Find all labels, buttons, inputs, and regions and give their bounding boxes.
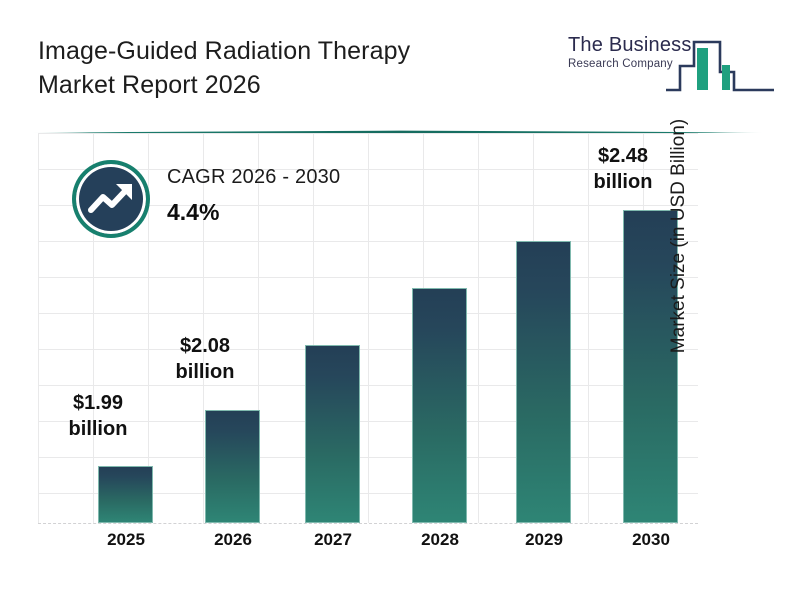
value-label-2025-amount: $1.99 [43, 390, 153, 416]
x-label-2029: 2029 [489, 530, 599, 550]
bar-2027 [305, 345, 360, 523]
value-label-2026-unit: billion [150, 359, 260, 385]
bar-2028 [412, 288, 467, 523]
bar-2029 [516, 241, 571, 523]
cagr-badge: CAGR 2026 - 2030 4.4% [72, 152, 402, 248]
cagr-period-label: CAGR 2026 - 2030 [167, 166, 340, 189]
x-label-2025: 2025 [71, 530, 181, 550]
x-label-2028: 2028 [385, 530, 495, 550]
bar-2026 [205, 410, 260, 523]
value-label-2025: $1.99 billion [43, 390, 153, 442]
page-title-line-1: Image-Guided Radiation Therapy [38, 34, 508, 68]
report-header: Image-Guided Radiation Therapy Market Re… [0, 0, 800, 122]
trending-up-icon [72, 160, 150, 238]
page-title: Image-Guided Radiation Therapy Market Re… [38, 34, 508, 102]
x-label-2026: 2026 [178, 530, 288, 550]
value-label-2030-amount: $2.48 [568, 143, 678, 169]
value-label-2030-unit: billion [568, 169, 678, 195]
x-axis-labels: 2025 2026 2027 2028 2029 2030 [38, 530, 698, 560]
y-axis-title: Market Size (in USD Billion) [668, 119, 690, 353]
x-label-2030: 2030 [596, 530, 706, 550]
value-label-2025-unit: billion [43, 416, 153, 442]
company-logo: The Business Research Company [568, 28, 778, 100]
value-label-2030: $2.48 billion [568, 143, 678, 195]
bar-chart-logo-icon [664, 28, 776, 105]
value-label-2026-amount: $2.08 [150, 333, 260, 359]
x-axis-line [38, 523, 698, 524]
page-title-line-2: Market Report 2026 [38, 68, 508, 102]
header-divider [30, 122, 770, 127]
bar-2025 [98, 466, 153, 523]
x-label-2027: 2027 [278, 530, 388, 550]
value-label-2026: $2.08 billion [150, 333, 260, 385]
cagr-value-label: 4.4% [167, 199, 340, 226]
cagr-text-block: CAGR 2026 - 2030 4.4% [167, 166, 340, 226]
